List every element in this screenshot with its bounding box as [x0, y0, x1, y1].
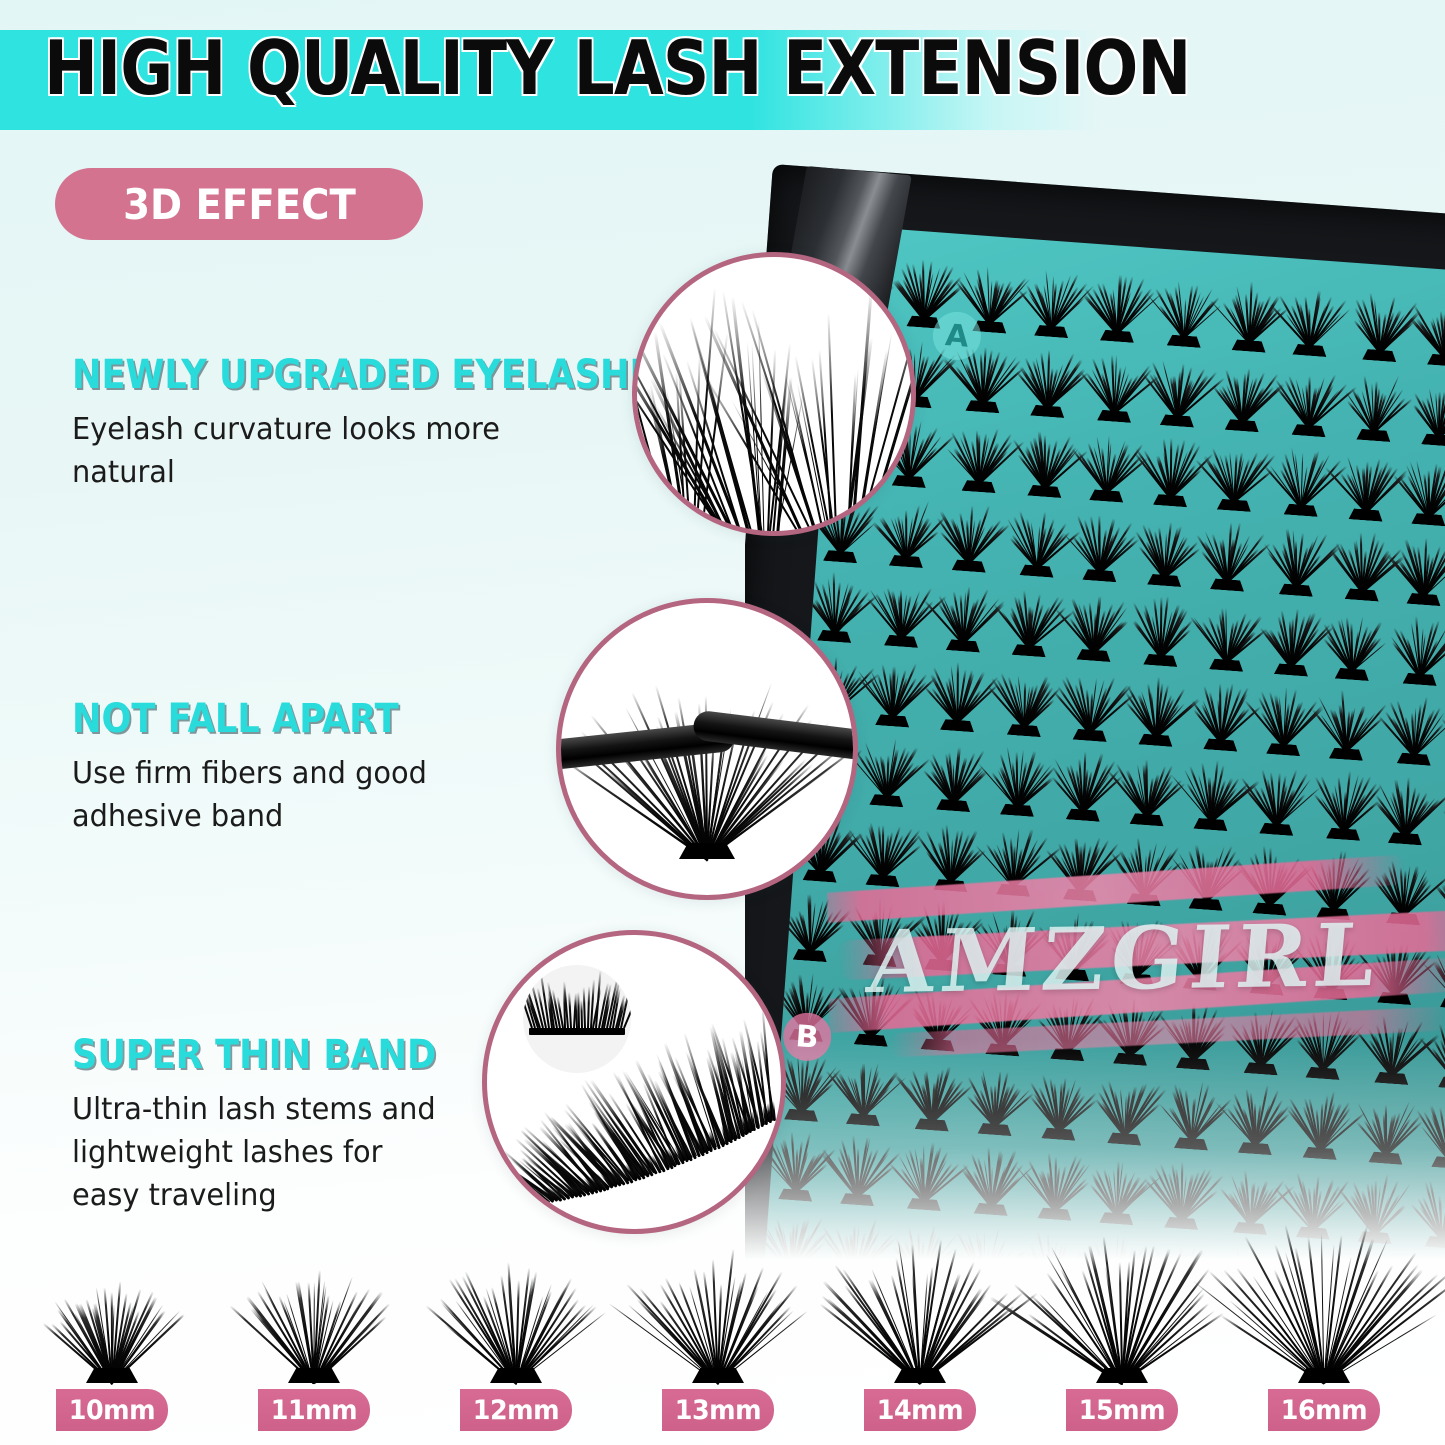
lash-band-base — [86, 1368, 138, 1383]
lash-fiber-group — [1343, 447, 1394, 514]
status-badge-label: 3D EFFECT — [123, 180, 356, 229]
feature-title: NOT FALL APART — [72, 696, 512, 742]
lash-fiber-group — [1211, 437, 1262, 504]
lash-cluster — [1363, 1088, 1414, 1165]
lash-cluster — [1254, 1213, 1394, 1383]
lash-cluster — [1006, 581, 1057, 658]
feature-description: Eyelash curvature looks more natural — [72, 408, 590, 494]
lash-cluster — [972, 1059, 1023, 1136]
lash-cluster — [1268, 600, 1319, 677]
lash-cluster — [1137, 590, 1188, 667]
lash-fiber-group — [1001, 662, 1052, 729]
lash-fiber-group — [935, 658, 986, 725]
lash-fiber-group — [1397, 611, 1445, 678]
lash-cluster — [1329, 604, 1380, 681]
lash-fiber-group — [1094, 1150, 1145, 1217]
lash-fiber-group — [1204, 597, 1255, 664]
size-item: 10mm — [12, 1230, 212, 1445]
lash-cluster — [1323, 684, 1374, 761]
lash-band-base — [288, 1368, 340, 1383]
lash-cluster — [446, 1257, 586, 1383]
lash-fiber-group — [1188, 756, 1239, 823]
size-item: 13mm — [618, 1230, 818, 1445]
lash-cluster — [1158, 1153, 1209, 1230]
size-tag: 15mm — [1066, 1389, 1178, 1431]
infographic-page: HIGH QUALITY LASH EXTENSION 3D EFFECT AM… — [0, 0, 1445, 1445]
size-item: 15mm — [1022, 1230, 1222, 1445]
lash-cluster — [1076, 506, 1127, 583]
lash-fiber-group — [1095, 268, 1146, 335]
size-tag: 13mm — [662, 1389, 774, 1431]
size-tag: 16mm — [1268, 1389, 1380, 1431]
lash-cluster — [1339, 525, 1390, 602]
lash-cluster — [1091, 346, 1142, 423]
lash-band-base — [1096, 1368, 1148, 1383]
lash-band-base — [490, 1368, 542, 1383]
lash-cluster — [1401, 529, 1445, 606]
lash-cluster — [1219, 356, 1270, 433]
lash-cluster — [956, 416, 1007, 493]
lash-fiber-group — [995, 742, 1046, 809]
page-title: HIGH QUALITY LASH EXTENSION — [44, 28, 1191, 108]
lash-fiber-group — [244, 1268, 384, 1383]
lash-fiber-group — [956, 418, 1007, 485]
lash-fiber-group — [1124, 752, 1175, 819]
lash-rows — [841, 225, 1445, 276]
lash-fiber-group — [1278, 442, 1329, 509]
lash-fiber-group — [1148, 433, 1199, 500]
lash-fiber-group — [850, 1235, 990, 1383]
status-badge-3d-effect: 3D EFFECT — [55, 168, 423, 240]
lash-band-base — [1298, 1368, 1350, 1383]
lash-cluster — [1226, 276, 1277, 353]
lash-cluster — [1232, 1078, 1283, 1155]
size-tag: 12mm — [460, 1389, 572, 1431]
lash-band-line — [529, 1028, 625, 1035]
lash-fiber-group — [1198, 677, 1249, 744]
lash-cluster — [1203, 595, 1254, 672]
lash-cluster — [878, 571, 929, 648]
lash-cluster — [850, 1235, 990, 1383]
lash-fiber-group — [1036, 1066, 1087, 1133]
lash-fiber-group — [648, 1246, 788, 1383]
lash-fiber-group — [901, 254, 952, 321]
lash-cluster — [1187, 754, 1238, 831]
lash-cluster — [1083, 426, 1134, 503]
lash-fiber-group — [1014, 503, 1065, 570]
lash-cluster — [811, 566, 862, 643]
lash-cluster — [1204, 515, 1255, 592]
lash-cluster — [930, 735, 981, 812]
lash-fiber-group — [968, 1141, 1019, 1208]
feature-description: Ultra-thin lash stems and lightweight la… — [72, 1088, 456, 1217]
lash-cluster — [994, 740, 1045, 817]
lash-fiber-group — [1324, 686, 1375, 753]
lash-cluster — [1286, 280, 1337, 357]
lash-fiber-group — [967, 259, 1018, 326]
size-tag-label: 16mm — [1281, 1395, 1367, 1426]
lash-cluster — [42, 1279, 182, 1383]
lash-cluster — [883, 491, 934, 568]
lash-fiber-group — [1422, 292, 1445, 359]
lash-cluster — [1154, 351, 1205, 428]
lash-fiber-group — [773, 1127, 824, 1194]
lash-fiber-group — [835, 1131, 886, 1198]
size-tag-label: 12mm — [473, 1395, 559, 1426]
lash-cluster — [1071, 585, 1122, 662]
lash-fiber-group — [946, 498, 997, 565]
feature-block-super-thin-band: SUPER THIN BAND Ultra-thin lash stems an… — [72, 1032, 486, 1217]
lash-cluster — [1382, 769, 1433, 846]
lash-fiber-group — [909, 1057, 960, 1124]
lash-fiber-group — [1287, 282, 1338, 349]
lash-cluster — [1297, 1083, 1348, 1160]
lash-fiber-group — [1155, 353, 1206, 420]
lash-fiber-group — [1226, 278, 1277, 345]
size-item: 16mm — [1224, 1230, 1424, 1445]
lash-fiber-group — [901, 1136, 952, 1203]
lash-fiber-group — [812, 568, 863, 635]
lash-cluster — [1391, 689, 1442, 766]
lash-fiber-group — [1006, 583, 1057, 650]
lash-fiber-group — [864, 733, 915, 800]
lash-cluster — [1060, 745, 1111, 822]
lash-cluster — [1278, 440, 1329, 517]
lash-fiber-group — [1232, 1080, 1283, 1147]
lash-cluster — [1320, 764, 1371, 841]
thin-band-inset — [523, 965, 631, 1073]
lash-cluster — [1253, 759, 1304, 836]
lash-fiber-group — [1077, 508, 1128, 575]
lash-fiber-group — [1406, 451, 1445, 518]
lash-fiber-group — [1401, 531, 1445, 598]
lash-cluster — [1035, 1064, 1086, 1141]
lash-cluster — [1425, 1093, 1445, 1170]
callout-curved-lash-fibers — [632, 252, 916, 536]
size-item: 14mm — [820, 1230, 1020, 1445]
lash-fiber-group — [1169, 1076, 1220, 1143]
lash-cluster — [1147, 431, 1198, 508]
lash-cluster — [1356, 285, 1407, 362]
lash-cluster — [1024, 341, 1075, 418]
lash-fiber-group — [1067, 667, 1118, 734]
feature-description: Use firm fibers and good adhesive band — [72, 752, 552, 838]
lash-fiber-group — [1339, 527, 1390, 594]
size-tag-label: 10mm — [69, 1395, 155, 1426]
feature-title: SUPER THIN BAND — [72, 1032, 436, 1078]
size-tag-label: 11mm — [271, 1395, 357, 1426]
lash-fiber-group — [1269, 602, 1320, 669]
lash-cluster — [1052, 1224, 1192, 1383]
lash-fiber-group — [1159, 1155, 1210, 1222]
lash-cluster — [1132, 670, 1183, 747]
lash-cluster — [940, 576, 991, 653]
lash-fiber-group — [940, 578, 991, 645]
lash-fiber-group — [870, 653, 921, 720]
lash-fiber-group — [1052, 1224, 1192, 1383]
lash-fiber-group — [1060, 747, 1111, 814]
lash-cluster — [1405, 449, 1445, 526]
lash-fiber-group — [1142, 512, 1193, 579]
lash-cluster — [1197, 675, 1248, 752]
size-chart-row: 10mm11mm12mm13mm14mm15mm16mm — [0, 1230, 1445, 1445]
lash-fiber-group — [1102, 1071, 1153, 1138]
lash-cluster — [1124, 750, 1175, 827]
lash-fiber-group — [1273, 522, 1324, 589]
lash-fiber-group — [1084, 428, 1135, 495]
lash-cluster — [1415, 370, 1445, 447]
lash-cluster — [1350, 365, 1401, 442]
lash-cluster — [1421, 290, 1445, 367]
lash-fiber-group — [1138, 592, 1189, 659]
lash-fiber — [583, 987, 586, 1028]
lash-fiber-group — [1329, 606, 1380, 673]
lash-cluster — [946, 496, 997, 573]
lash-cluster — [869, 651, 920, 728]
lash-fiber-group — [1205, 517, 1256, 584]
lash-fiber-group — [931, 737, 982, 804]
lash-fiber-group — [884, 493, 935, 560]
lash-cluster — [772, 1125, 823, 1202]
lash-fiber-group — [446, 1257, 586, 1383]
lash-cluster — [648, 1246, 788, 1383]
lash-fiber-group — [1363, 1090, 1414, 1157]
callout-tweezers-pull-test — [556, 598, 858, 900]
lash-cluster — [1032, 1144, 1083, 1221]
lash-fiber-group — [1286, 362, 1337, 429]
callout-thin-band — [482, 930, 786, 1234]
lash-cluster — [863, 731, 914, 808]
lash-cluster — [909, 1055, 960, 1132]
lash-fiber-group — [1254, 1213, 1394, 1383]
lash-band-base — [679, 843, 735, 859]
lash-fiber-group — [879, 573, 930, 640]
lash-fiber-group — [1032, 1146, 1083, 1213]
lash-cluster — [1101, 1069, 1152, 1146]
lash-cluster — [1067, 665, 1118, 742]
size-tag-label: 14mm — [877, 1395, 963, 1426]
lash-fiber-group — [1025, 343, 1076, 410]
brand-name: AMZGIRL — [863, 905, 1384, 1013]
lash-cluster — [1001, 660, 1052, 737]
lash-cluster — [834, 1129, 885, 1206]
size-tag: 10mm — [56, 1389, 168, 1431]
lash-fiber-group — [1426, 1095, 1445, 1162]
lash-fiber-group — [1022, 423, 1073, 490]
lash-fiber-group — [1092, 348, 1143, 415]
lash-cluster — [1141, 510, 1192, 587]
lash-band-base — [894, 1368, 946, 1383]
size-tag: 11mm — [258, 1389, 370, 1431]
lash-cluster — [1168, 1074, 1219, 1151]
lash-cluster — [1021, 421, 1072, 498]
lash-fiber-group — [1297, 1085, 1348, 1152]
lash-cluster — [934, 656, 985, 733]
lash-cluster — [1161, 271, 1212, 348]
size-tag: 14mm — [864, 1389, 976, 1431]
lash-fiber-group — [972, 1061, 1023, 1128]
lash-cluster — [1397, 609, 1445, 686]
lash-fiber-group — [1133, 672, 1184, 739]
lash-fiber-group — [1357, 287, 1408, 354]
lash-cluster — [244, 1268, 384, 1383]
lash-cluster — [1343, 445, 1394, 522]
lash-fiber-group — [1351, 367, 1402, 434]
lash-cluster — [1211, 435, 1262, 512]
lash-cluster — [1014, 501, 1065, 578]
size-tag-label: 15mm — [1079, 1395, 1165, 1426]
size-item: 12mm — [416, 1230, 616, 1445]
lash-cluster — [1260, 679, 1311, 756]
lash-band-base — [692, 1368, 744, 1383]
lash-fiber-group — [1416, 372, 1445, 439]
lash-fiber-group — [1161, 273, 1212, 340]
feature-block-not-fall-apart: NOT FALL APART Use firm fibers and good … — [72, 696, 572, 838]
lash-cluster — [1093, 1149, 1144, 1226]
lash-cluster — [1286, 360, 1337, 437]
lash-fiber-group — [1071, 587, 1122, 654]
lash-fiber-group — [1391, 691, 1442, 758]
lash-fiber-group — [1029, 263, 1080, 330]
lash-fiber-group — [42, 1279, 182, 1383]
size-tag-label: 13mm — [675, 1395, 761, 1426]
lash-fiber-group — [1383, 771, 1434, 838]
lash-cluster — [1094, 266, 1145, 343]
full-lash-strip — [501, 1073, 773, 1223]
size-item: 11mm — [214, 1230, 414, 1445]
lash-fiber-group — [1254, 761, 1305, 828]
lash-fiber — [568, 992, 572, 1028]
feature-title: NEWLY UPGRADED EYELASHES — [72, 352, 679, 398]
lash-cluster — [1028, 261, 1079, 338]
lash-fiber-group — [1261, 681, 1312, 748]
lash-fiber-group — [1219, 358, 1270, 425]
lash-cluster — [1273, 520, 1324, 597]
lash-fiber-group — [1321, 766, 1372, 833]
lash-cluster — [968, 1139, 1019, 1216]
brand-artwork: AMZGIRL — [827, 847, 1445, 1067]
lash-cluster — [901, 1134, 952, 1211]
